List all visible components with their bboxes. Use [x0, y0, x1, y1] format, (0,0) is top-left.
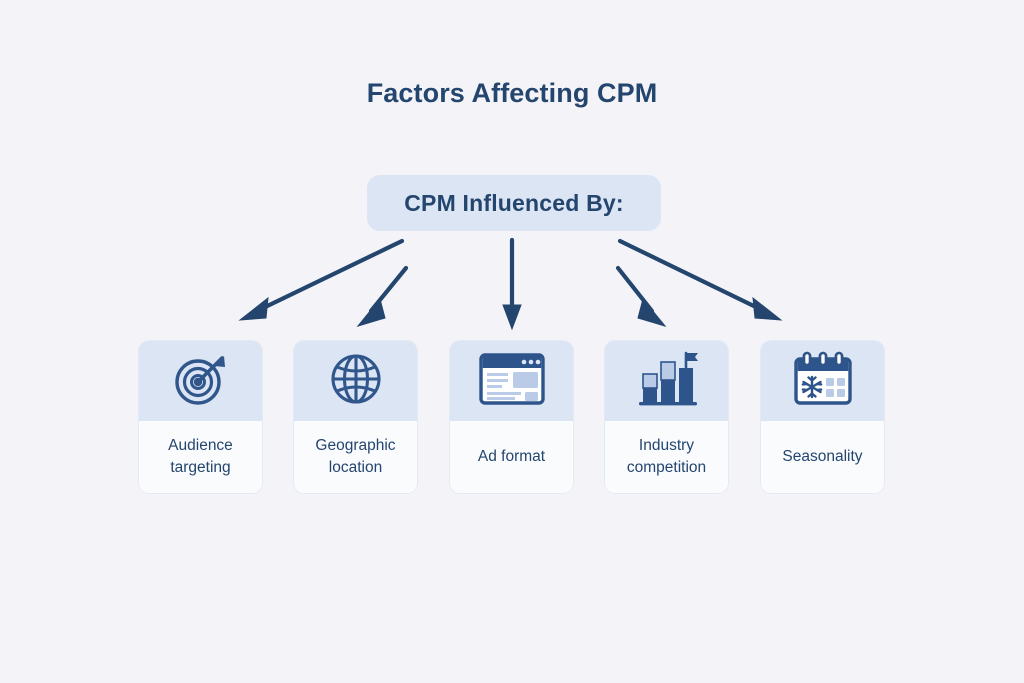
card-icon-area [605, 341, 728, 421]
card-icon-area [294, 341, 417, 421]
card-label-area: Seasonality [761, 421, 884, 493]
card-icon-area [761, 341, 884, 421]
card-icon-area [139, 341, 262, 421]
bar-chart-flag-icon [635, 350, 699, 413]
diagram-canvas: Factors Affecting CPM CPM Influenced By: [0, 0, 1024, 683]
card-icon-area [450, 341, 573, 421]
browser-window-layout-icon [479, 351, 545, 412]
card-label-area: Industry competition [605, 421, 728, 493]
factor-card-geographic-location[interactable]: Geographic location [293, 340, 418, 494]
factor-card-seasonality[interactable]: Seasonality [760, 340, 885, 494]
arrow-to-ad-format [503, 240, 521, 329]
root-node: CPM Influenced By: [367, 175, 661, 231]
arrow-to-geographic-location [358, 268, 406, 326]
factor-label: Ad format [478, 446, 545, 468]
root-node-label: CPM Influenced By: [404, 190, 624, 217]
factor-label: Audience targeting [145, 435, 256, 479]
factor-label: Industry competition [611, 435, 722, 479]
page-title: Factors Affecting CPM [0, 78, 1024, 109]
card-label-area: Ad format [450, 421, 573, 493]
factor-card-audience-targeting[interactable]: Audience targeting [138, 340, 263, 494]
card-label-area: Geographic location [294, 421, 417, 493]
calendar-snowflake-icon [792, 351, 854, 412]
arrow-to-industry-competition [618, 268, 665, 326]
target-bullseye-arrow-icon [172, 350, 230, 413]
factor-label: Seasonality [782, 446, 862, 468]
globe-icon [328, 351, 384, 412]
arrow-to-audience-targeting [240, 241, 402, 320]
factor-card-ad-format[interactable]: Ad format [449, 340, 574, 494]
arrow-to-seasonality [620, 241, 781, 320]
factor-card-industry-competition[interactable]: Industry competition [604, 340, 729, 494]
card-label-area: Audience targeting [139, 421, 262, 493]
factor-label: Geographic location [300, 435, 411, 479]
